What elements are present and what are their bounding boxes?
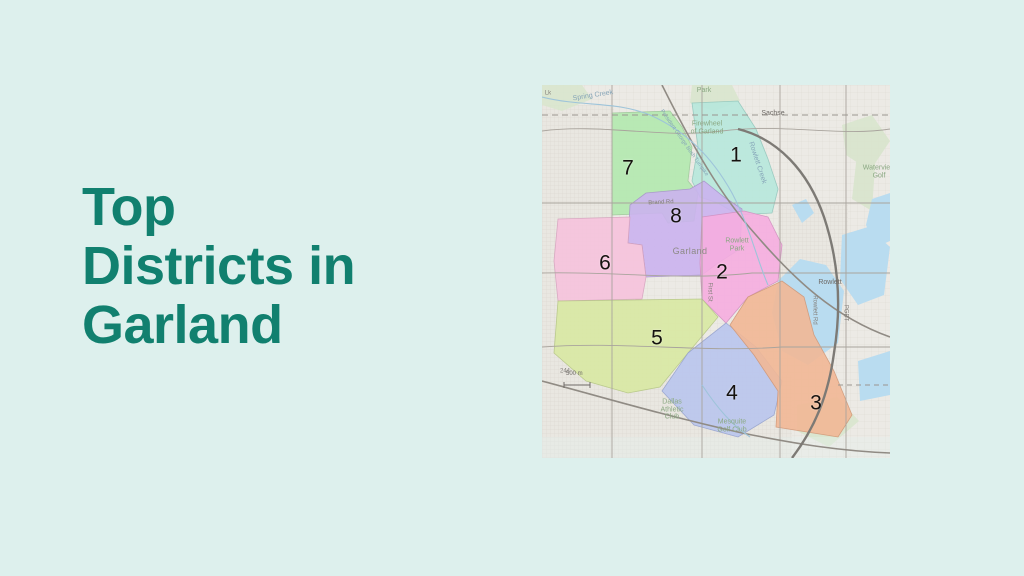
map-base-layer <box>542 85 890 458</box>
garland-districts-map[interactable]: Garland Sachse Rowlett Firewheel of Garl… <box>542 85 890 458</box>
map-scale-label: 500 m <box>566 371 583 377</box>
page-title: Top Districts in Garland <box>82 178 482 355</box>
slide-canvas: Top Districts in Garland <box>0 0 1024 576</box>
title-block: Top Districts in Garland <box>82 178 482 355</box>
